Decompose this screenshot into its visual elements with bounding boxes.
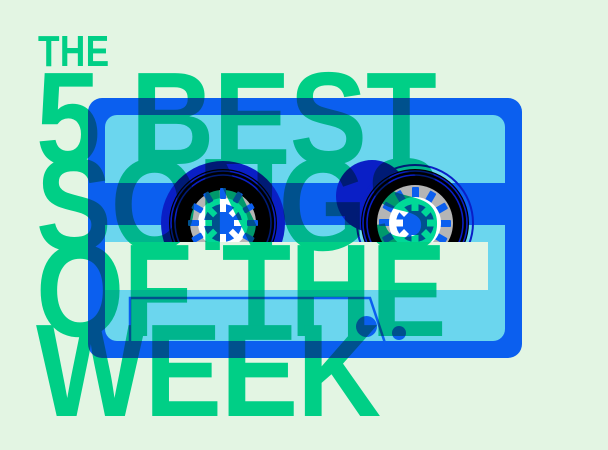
poster-canvas: THE 5 BEST SONGS OF THE WEEK	[0, 0, 608, 450]
cassette-spindle-dot-small	[392, 326, 406, 340]
cassette-spindle-dot-large	[356, 316, 377, 337]
cassette-label-strip	[105, 242, 488, 290]
cassette-trapezoid-outline	[128, 288, 388, 348]
headline-line-the: THE	[38, 34, 109, 69]
cassette-tape-illustration	[88, 98, 522, 358]
